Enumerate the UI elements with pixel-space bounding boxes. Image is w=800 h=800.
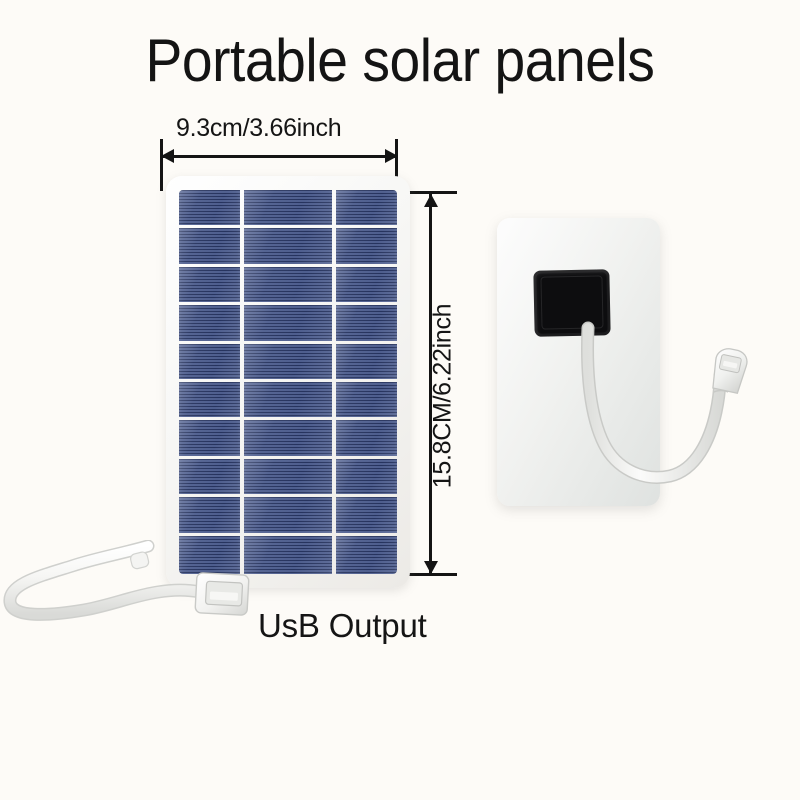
cell-gloss-overlay <box>336 459 397 494</box>
product-image-canvas: Portable solar panels 9.3cm/3.66inch 15.… <box>0 0 800 800</box>
height-dimension-line <box>429 193 432 575</box>
solar-cell <box>179 190 240 225</box>
solar-cell <box>179 305 240 340</box>
solar-cell-row <box>179 497 397 535</box>
solar-cell <box>179 497 240 532</box>
solar-cell <box>336 382 397 417</box>
solar-cell <box>336 420 397 455</box>
width-dimension-arrow-left-icon <box>161 149 174 163</box>
usb-output-caption: UsB Output <box>258 606 427 646</box>
cell-gloss-overlay <box>336 190 397 225</box>
cell-gloss-overlay <box>179 344 240 379</box>
solar-cell <box>244 228 332 263</box>
cell-gloss-overlay <box>244 305 332 340</box>
solar-cell-row <box>179 382 397 420</box>
cell-gloss-overlay <box>336 382 397 417</box>
width-dimension-label: 9.3cm/3.66inch <box>176 114 341 142</box>
solar-cell <box>179 228 240 263</box>
solar-cell <box>244 459 332 494</box>
usb-cable-front <box>0 540 270 660</box>
solar-cell <box>244 267 332 302</box>
solar-cell-row <box>179 228 397 266</box>
height-dimension-arrow-top-icon <box>424 194 438 207</box>
cell-gloss-overlay <box>179 267 240 302</box>
cell-gloss-overlay <box>336 267 397 302</box>
cell-gloss-overlay <box>179 459 240 494</box>
cell-gloss-overlay <box>179 228 240 263</box>
width-dimension-tick-left <box>160 139 163 191</box>
cell-gloss-overlay <box>244 267 332 302</box>
page-title: Portable solar panels <box>32 26 768 96</box>
solar-cell-row <box>179 190 397 228</box>
solar-cell <box>179 344 240 379</box>
solar-cell <box>336 190 397 225</box>
cell-gloss-overlay <box>336 497 397 532</box>
cell-gloss-overlay <box>179 190 240 225</box>
cell-gloss-overlay <box>244 420 332 455</box>
cell-gloss-overlay <box>179 305 240 340</box>
cell-gloss-overlay <box>244 190 332 225</box>
solar-cell <box>179 459 240 494</box>
solar-cell <box>336 344 397 379</box>
width-dimension-line <box>161 155 397 158</box>
solar-cell <box>244 497 332 532</box>
cell-gloss-overlay <box>336 536 397 574</box>
solar-cell <box>336 228 397 263</box>
cell-gloss-overlay <box>244 344 332 379</box>
cell-gloss-overlay <box>336 305 397 340</box>
cell-gloss-overlay <box>179 382 240 417</box>
height-dimension-label: 15.8CM/6.22inch <box>428 304 456 489</box>
cell-gloss-overlay <box>244 459 332 494</box>
cell-gloss-overlay <box>244 497 332 532</box>
solar-cell-grid <box>179 190 397 574</box>
cell-gloss-overlay <box>336 420 397 455</box>
solar-cell-row <box>179 267 397 305</box>
solar-cell <box>244 382 332 417</box>
width-dimension-arrow-right-icon <box>385 149 398 163</box>
solar-cell <box>336 497 397 532</box>
solar-panel-front <box>166 176 410 588</box>
solar-cell <box>244 190 332 225</box>
height-dimension-arrow-bottom-icon <box>424 561 438 574</box>
cell-gloss-overlay <box>244 228 332 263</box>
solar-cell <box>244 305 332 340</box>
solar-cell <box>179 267 240 302</box>
solar-cell-row <box>179 459 397 497</box>
cell-gloss-overlay <box>244 382 332 417</box>
cell-gloss-overlay <box>336 344 397 379</box>
solar-cell-row <box>179 305 397 343</box>
solar-cell <box>244 344 332 379</box>
solar-cell <box>179 382 240 417</box>
solar-cell <box>336 459 397 494</box>
cell-gloss-overlay <box>336 228 397 263</box>
solar-cell <box>179 420 240 455</box>
solar-cell <box>336 536 397 574</box>
cell-gloss-overlay <box>179 497 240 532</box>
solar-cell <box>336 305 397 340</box>
solar-cell <box>336 267 397 302</box>
solar-cell-row <box>179 344 397 382</box>
cell-gloss-overlay <box>179 420 240 455</box>
solar-cell-row <box>179 420 397 458</box>
solar-cell <box>244 420 332 455</box>
